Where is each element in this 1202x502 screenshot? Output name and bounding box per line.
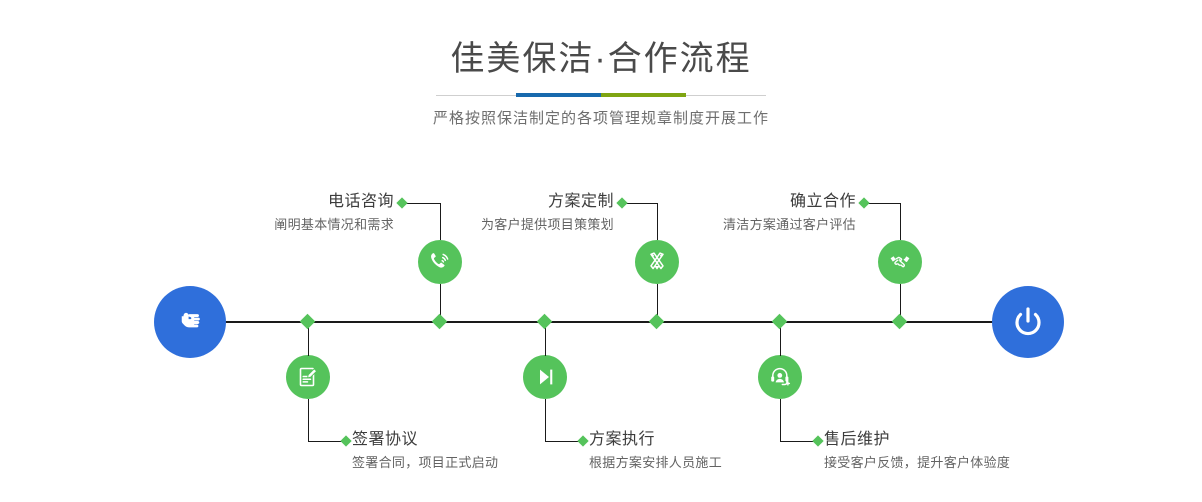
phone-call-icon xyxy=(427,249,453,275)
timeline-start-marker xyxy=(154,286,226,358)
connector-label-horizontal-6 xyxy=(866,203,901,204)
step-label-5: 售后维护 接受客户反馈，提升客户体验度 xyxy=(824,430,1124,473)
play-skip-icon xyxy=(532,364,558,390)
timeline: 电话咨询 阐明基本情况和需求 签署协议 签署合同，项目正式启动 xyxy=(0,0,1202,502)
step-label-4: 方案执行 根据方案安排人员施工 xyxy=(589,430,849,473)
step-node-phone-call[interactable] xyxy=(418,240,462,284)
step-node-establish-cooperation[interactable] xyxy=(878,240,922,284)
step-label-2: 签署协议 签署合同，项目正式启动 xyxy=(352,430,612,473)
label-dot-2 xyxy=(340,435,351,446)
headset-support-icon xyxy=(767,364,793,390)
axis-diamond-4 xyxy=(537,314,553,330)
step-desc-2: 签署合同，项目正式启动 xyxy=(352,450,612,473)
connector-node-to-label-6 xyxy=(900,203,901,240)
step-label-1: 电话咨询 阐明基本情况和需求 xyxy=(150,192,394,235)
step-label-6: 确立合作 清洁方案通过客户评估 xyxy=(612,192,856,235)
axis-diamond-5 xyxy=(772,314,788,330)
step-desc-1: 阐明基本情况和需求 xyxy=(150,212,394,235)
axis-diamond-6 xyxy=(892,314,908,330)
pencil-ruler-icon xyxy=(644,249,670,275)
document-pencil-icon xyxy=(295,364,321,390)
timeline-end-marker xyxy=(992,286,1064,358)
power-button-icon xyxy=(1008,300,1048,345)
step-title-3: 方案定制 xyxy=(370,192,614,212)
connector-node-to-label-5 xyxy=(780,399,781,441)
timeline-axis xyxy=(155,321,1047,323)
step-desc-4: 根据方案安排人员施工 xyxy=(589,450,849,473)
cooperation-process-infographic: 佳美保洁·合作流程 严格按照保洁制定的各项管理规章制度开展工作 xyxy=(0,0,1202,502)
step-title-5: 售后维护 xyxy=(824,430,1124,450)
step-title-2: 签署协议 xyxy=(352,430,612,450)
step-title-6: 确立合作 xyxy=(612,192,856,212)
step-desc-5: 接受客户反馈，提升客户体验度 xyxy=(824,450,1124,473)
connector-node-to-label-2 xyxy=(308,399,309,441)
step-title-4: 方案执行 xyxy=(589,430,849,450)
step-title-1: 电话咨询 xyxy=(150,192,394,212)
pointing-hand-icon xyxy=(170,300,210,345)
axis-diamond-3 xyxy=(649,314,665,330)
step-node-plan-execution[interactable] xyxy=(523,355,567,399)
step-node-plan-customization[interactable] xyxy=(635,240,679,284)
step-node-sign-agreement[interactable] xyxy=(286,355,330,399)
step-node-after-sales[interactable] xyxy=(758,355,802,399)
step-label-3: 方案定制 为客户提供项目策策划 xyxy=(370,192,614,235)
axis-diamond-2 xyxy=(300,314,316,330)
label-dot-6 xyxy=(858,197,869,208)
handshake-icon xyxy=(887,249,913,275)
step-desc-6: 清洁方案通过客户评估 xyxy=(612,212,856,235)
connector-node-to-label-4 xyxy=(545,399,546,441)
step-desc-3: 为客户提供项目策策划 xyxy=(370,212,614,235)
axis-diamond-1 xyxy=(432,314,448,330)
